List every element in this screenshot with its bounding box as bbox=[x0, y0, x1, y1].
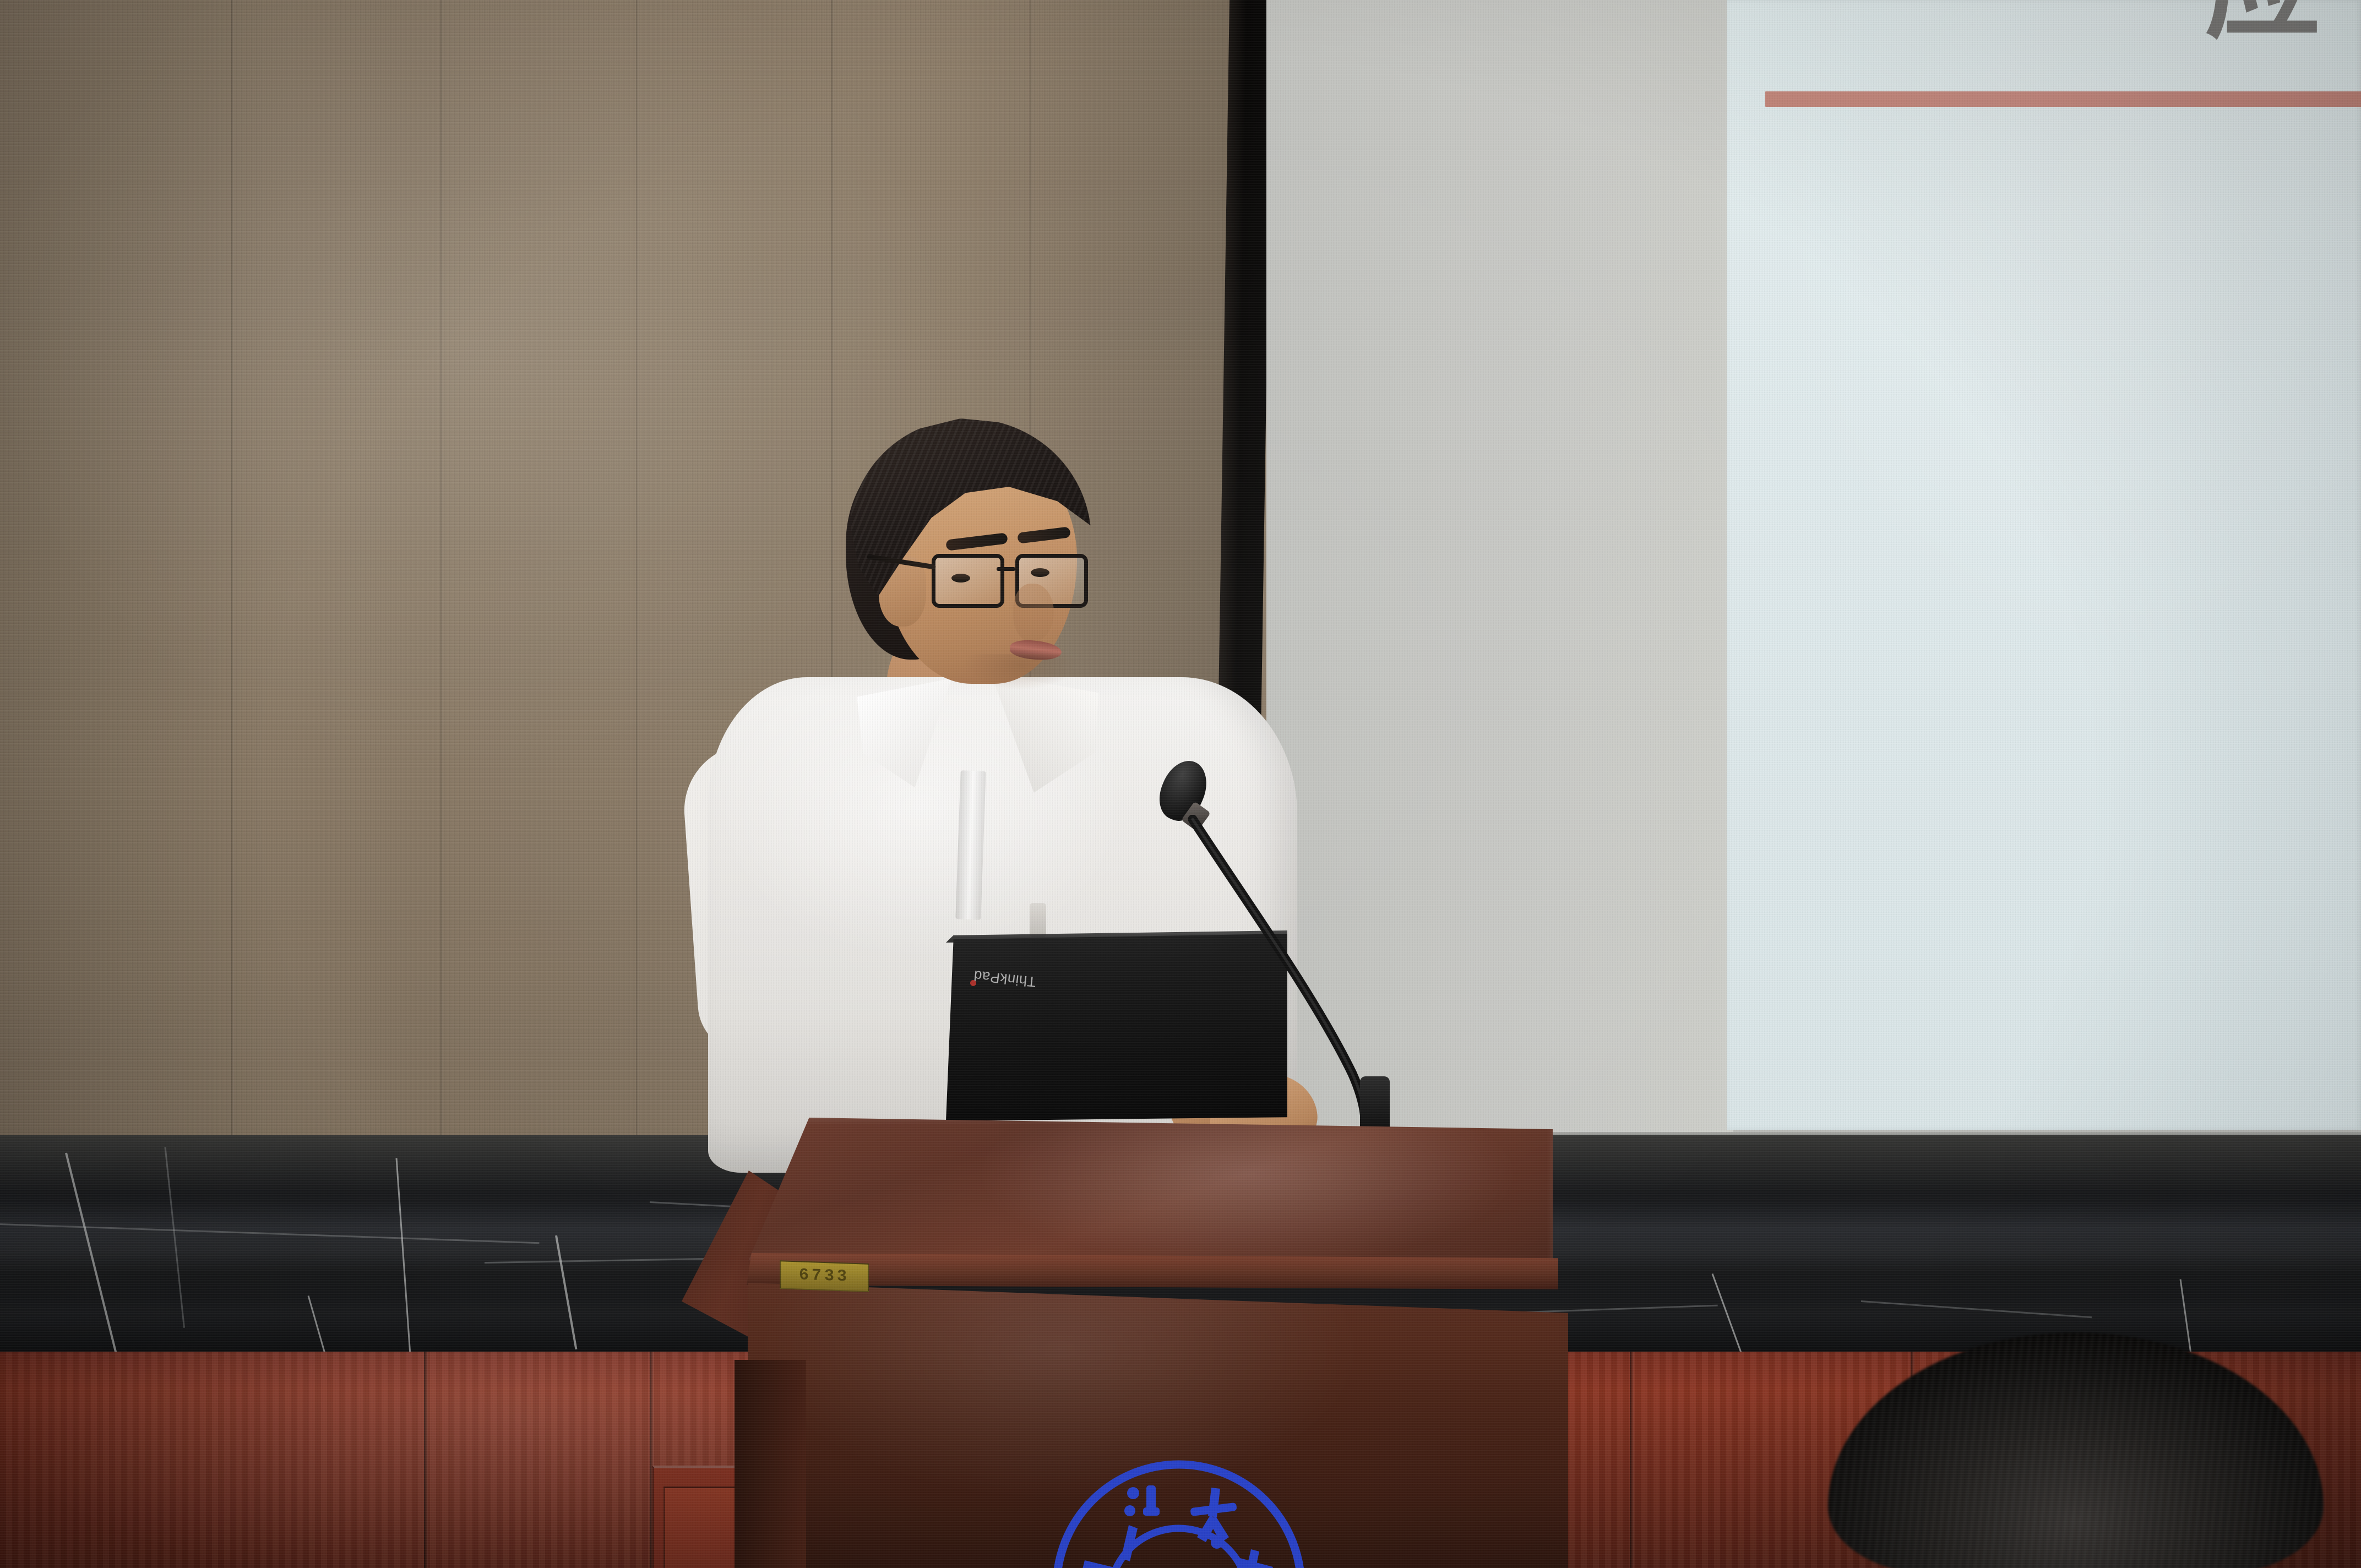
lectern-side-skirt bbox=[735, 1360, 806, 1568]
microphone-gooseneck bbox=[1177, 815, 1375, 1156]
slide-sheen bbox=[1727, 0, 2361, 1130]
lectern: 6733 bbox=[682, 1118, 1618, 1568]
lectern-nameplate: 6733 bbox=[780, 1260, 869, 1292]
presenter-head bbox=[849, 418, 1096, 694]
projected-slide: 应 bbox=[1727, 0, 2361, 1130]
eyeglass-bridge bbox=[997, 567, 1015, 571]
thinkpad-logo-dot-icon bbox=[970, 980, 976, 986]
polo-button-placket bbox=[955, 770, 986, 919]
lectern-nameplate-text: 6733 bbox=[799, 1266, 850, 1286]
chest-logo-icon bbox=[1030, 903, 1046, 937]
thinkpad-logo: ThinkPad bbox=[973, 967, 1037, 990]
eye-right bbox=[1031, 568, 1049, 577]
slide-title-text: 应 bbox=[2205, 0, 2324, 45]
eye-left bbox=[951, 574, 970, 582]
lectern-body-sheen bbox=[748, 1283, 1568, 1568]
chin-shadow bbox=[965, 654, 1075, 689]
photo-scene: 应 bbox=[0, 0, 2361, 1568]
slide-title-underline bbox=[1765, 91, 2361, 107]
presenter-nose bbox=[1013, 584, 1054, 642]
